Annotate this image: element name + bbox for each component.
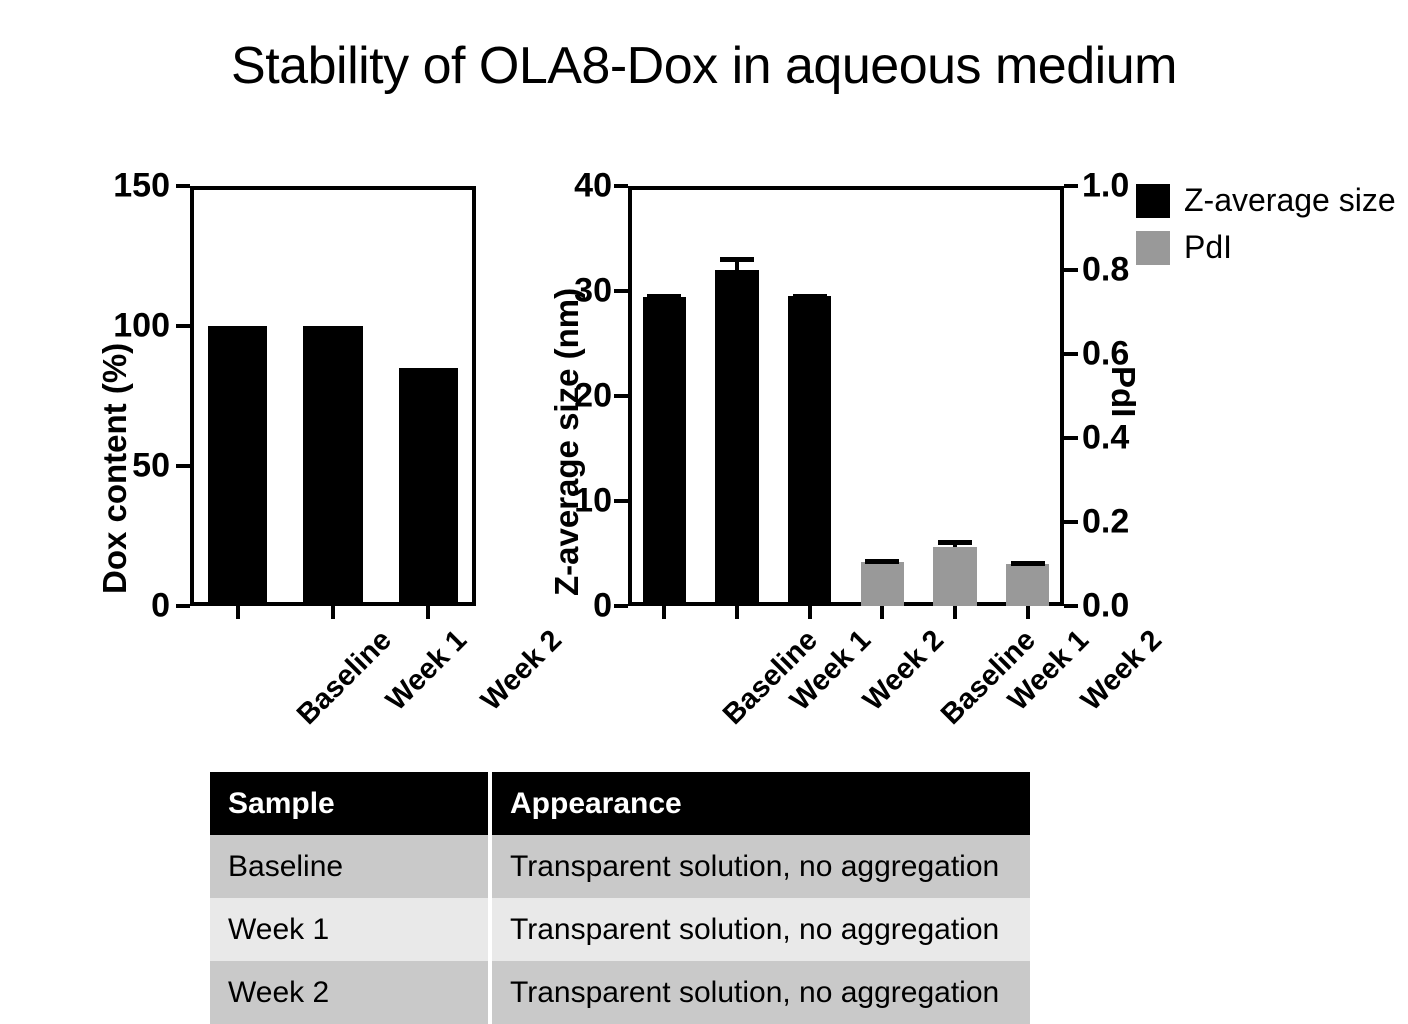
cell-sample: Week 1	[210, 898, 490, 961]
table-row: Week 2 Transparent solution, no aggregat…	[210, 961, 1030, 1024]
x-tick	[880, 606, 884, 619]
error-bar-cap	[647, 294, 681, 299]
bar	[788, 296, 832, 606]
y-tick-label-right: 0.0	[1082, 587, 1192, 626]
bar	[861, 562, 905, 606]
y-tick-right	[1064, 604, 1078, 608]
bar	[643, 297, 687, 606]
x-tick	[808, 606, 812, 619]
y-tick-left	[614, 289, 628, 293]
error-bar-cap	[938, 540, 972, 545]
y-tick-right	[1064, 268, 1078, 272]
table-header-row: Sample Appearance	[210, 772, 1030, 835]
x-tick	[953, 606, 957, 619]
chart-size-pdi: 0102030400.00.20.40.60.81.0BaselineWeek …	[0, 0, 1130, 760]
legend: Z-average size PdI	[1136, 182, 1396, 276]
y-tick-right	[1064, 184, 1078, 188]
x-tick	[1026, 606, 1030, 619]
error-bar-cap	[865, 559, 899, 564]
bar	[1006, 564, 1050, 606]
cell-appearance: Transparent solution, no aggregation	[490, 835, 1030, 898]
y-tick-left	[614, 394, 628, 398]
appearance-table: Sample Appearance Baseline Transparent s…	[210, 772, 1030, 1024]
cell-sample: Baseline	[210, 835, 490, 898]
y-tick-right	[1064, 352, 1078, 356]
y-tick-left	[614, 604, 628, 608]
legend-label-pdi: PdI	[1184, 229, 1232, 266]
cell-appearance: Transparent solution, no aggregation	[490, 961, 1030, 1024]
y-tick-label-right: 0.4	[1082, 419, 1192, 458]
y-tick-label-left: 40	[508, 167, 612, 206]
right-plot-area	[628, 186, 1064, 606]
x-tick	[735, 606, 739, 619]
y-axis-title-left: Z-average size (nm)	[548, 288, 586, 596]
table-header-appearance: Appearance	[490, 772, 1030, 835]
y-tick-label-right: 0.2	[1082, 503, 1192, 542]
legend-swatch-z-average	[1136, 184, 1170, 218]
y-tick-left	[614, 499, 628, 503]
cell-sample: Week 2	[210, 961, 490, 1024]
y-tick-left	[614, 184, 628, 188]
y-axis-title-right: PdI	[1104, 366, 1142, 417]
legend-item-z-average: Z-average size	[1136, 182, 1396, 219]
x-axis-category-label: Week 2	[857, 624, 951, 718]
y-tick-right	[1064, 520, 1078, 524]
y-tick-right	[1064, 436, 1078, 440]
x-axis-category-label: Week 2	[1075, 624, 1169, 718]
error-bar-cap	[1011, 561, 1045, 566]
legend-swatch-pdi	[1136, 231, 1170, 265]
x-tick	[662, 606, 666, 619]
figure-root: Stability of OLA8-Dox in aqueous medium …	[0, 0, 1408, 1024]
legend-item-pdi: PdI	[1136, 229, 1396, 266]
bar	[933, 547, 977, 606]
legend-label-z-average: Z-average size	[1184, 182, 1396, 219]
bar	[715, 270, 759, 606]
cell-appearance: Transparent solution, no aggregation	[490, 898, 1030, 961]
table-row: Baseline Transparent solution, no aggreg…	[210, 835, 1030, 898]
error-bar-cap	[720, 257, 754, 262]
table-row: Week 1 Transparent solution, no aggregat…	[210, 898, 1030, 961]
error-bar-cap	[793, 294, 827, 299]
table-header-sample: Sample	[210, 772, 490, 835]
